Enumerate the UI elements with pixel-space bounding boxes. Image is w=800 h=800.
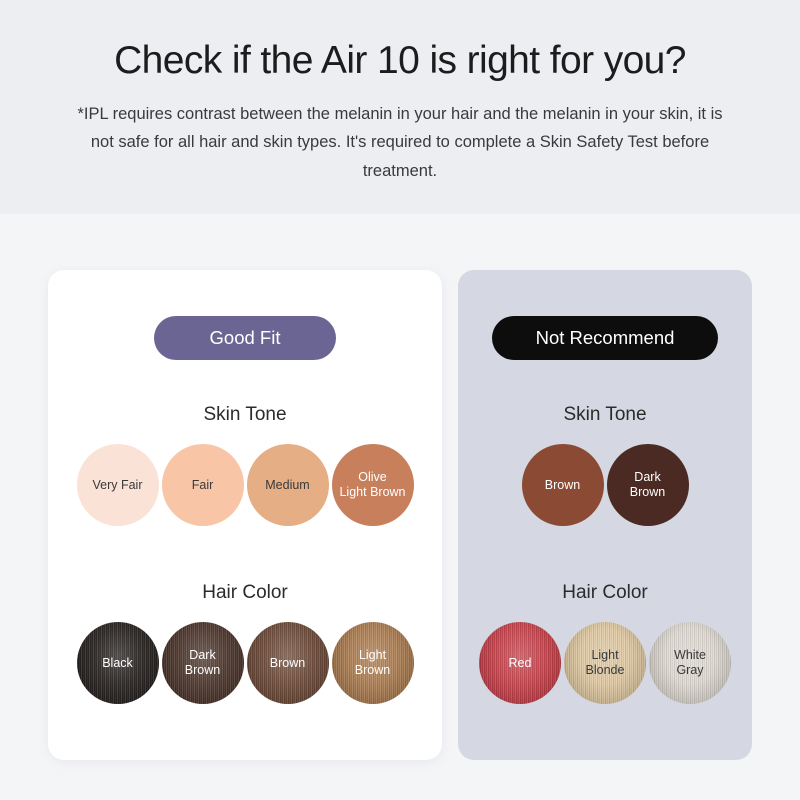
hair-swatch[interactable]: White Gray: [649, 622, 731, 704]
page-subtitle: *IPL requires contrast between the melan…: [70, 100, 730, 185]
skin-swatch-label: Very Fair: [88, 478, 146, 493]
hair-swatch[interactable]: Brown: [247, 622, 329, 704]
skin-swatch-label: Dark Brown: [626, 470, 669, 500]
badge-good-fit[interactable]: Good Fit: [154, 316, 336, 360]
bad-skin-tone-heading: Skin Tone: [458, 404, 752, 426]
good-skin-tone-row: Very FairFairMediumOlive Light Brown: [48, 444, 442, 526]
hair-swatch[interactable]: Dark Brown: [162, 622, 244, 704]
skin-swatch-label: Medium: [261, 478, 313, 493]
bad-hair-color-row: RedLight BlondeWhite Gray: [458, 622, 752, 704]
page-title: Check if the Air 10 is right for you?: [58, 0, 742, 84]
good-skin-tone-heading: Skin Tone: [48, 404, 442, 426]
header-section: Check if the Air 10 is right for you? *I…: [0, 0, 800, 214]
skin-swatch-label: Brown: [541, 478, 584, 493]
hair-swatch[interactable]: Light Blonde: [564, 622, 646, 704]
panel-not-recommend: Not Recommend Skin Tone BrownDark Brown …: [458, 270, 752, 760]
hair-swatch-label: Red: [505, 656, 536, 671]
skin-swatch[interactable]: Medium: [247, 444, 329, 526]
panels-section: Good Fit Skin Tone Very FairFairMediumOl…: [0, 214, 800, 800]
skin-swatch[interactable]: Dark Brown: [607, 444, 689, 526]
hair-swatch[interactable]: Black: [77, 622, 159, 704]
good-hair-color-heading: Hair Color: [48, 582, 442, 604]
hair-swatch-label: Dark Brown: [181, 648, 224, 678]
hair-swatch-label: Black: [98, 656, 137, 671]
hair-swatch-label: Light Blonde: [582, 648, 629, 678]
skin-swatch[interactable]: Very Fair: [77, 444, 159, 526]
hair-swatch-label: White Gray: [670, 648, 710, 678]
panel-good-fit: Good Fit Skin Tone Very FairFairMediumOl…: [48, 270, 442, 760]
bad-skin-tone-row: BrownDark Brown: [458, 444, 752, 526]
hair-swatch[interactable]: Light Brown: [332, 622, 414, 704]
skin-swatch[interactable]: Olive Light Brown: [332, 444, 414, 526]
skin-swatch-label: Fair: [188, 478, 218, 493]
hair-swatch-label: Brown: [266, 656, 309, 671]
good-hair-color-row: BlackDark BrownBrownLight Brown: [48, 622, 442, 704]
skin-swatch-label: Olive Light Brown: [335, 470, 409, 500]
page-root: Check if the Air 10 is right for you? *I…: [0, 0, 800, 800]
hair-swatch[interactable]: Red: [479, 622, 561, 704]
hair-swatch-label: Light Brown: [351, 648, 394, 678]
badge-not-recommend[interactable]: Not Recommend: [492, 316, 718, 360]
skin-swatch[interactable]: Fair: [162, 444, 244, 526]
bad-hair-color-heading: Hair Color: [458, 582, 752, 604]
skin-swatch[interactable]: Brown: [522, 444, 604, 526]
